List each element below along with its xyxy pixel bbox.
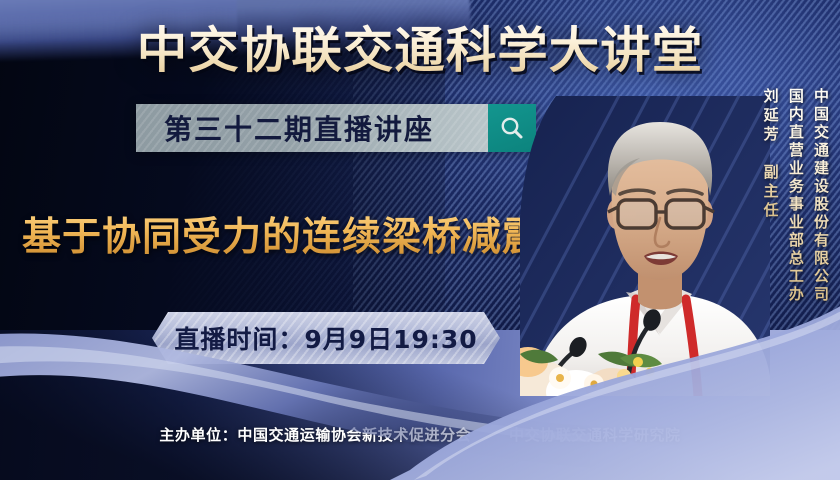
speaker-credentials: 中国交通建设股份有限公司 国内直营业务事业部总工办 刘延芳 副主任	[760, 88, 830, 304]
speaker-photo	[520, 96, 770, 396]
subtitle-band: 第三十二期直播讲座	[136, 104, 488, 152]
subtitle-bar: 第三十二期直播讲座	[136, 104, 536, 152]
footer-organizer-primary: 主办单位：中国交通运输协会新技术促进分会	[159, 426, 471, 444]
footer-organizers: 主办单位：中国交通运输协会新技术促进分会 中交协联交通科学研究院	[0, 424, 840, 445]
broadcast-time-plaque: 直播时间：9月9日19:30	[152, 312, 500, 364]
speaker-organization: 中国交通建设股份有限公司	[811, 88, 830, 304]
broadcast-time-label: 直播时间：9月9日19:30	[174, 320, 477, 356]
poster-root: 中交协联交通科学大讲堂 第三十二期直播讲座 基于协同受力的连续梁桥减震技术 直播…	[0, 0, 840, 480]
speaker-department: 国内直营业务事业部总工办	[786, 88, 805, 304]
speaker-name-title: 刘延芳 副主任	[760, 88, 779, 221]
subtitle-label: 第三十二期直播讲座	[136, 108, 434, 148]
page-title: 中交协联交通科学大讲堂	[0, 20, 840, 81]
footer-organizer-secondary: 中交协联交通科学研究院	[509, 426, 681, 444]
